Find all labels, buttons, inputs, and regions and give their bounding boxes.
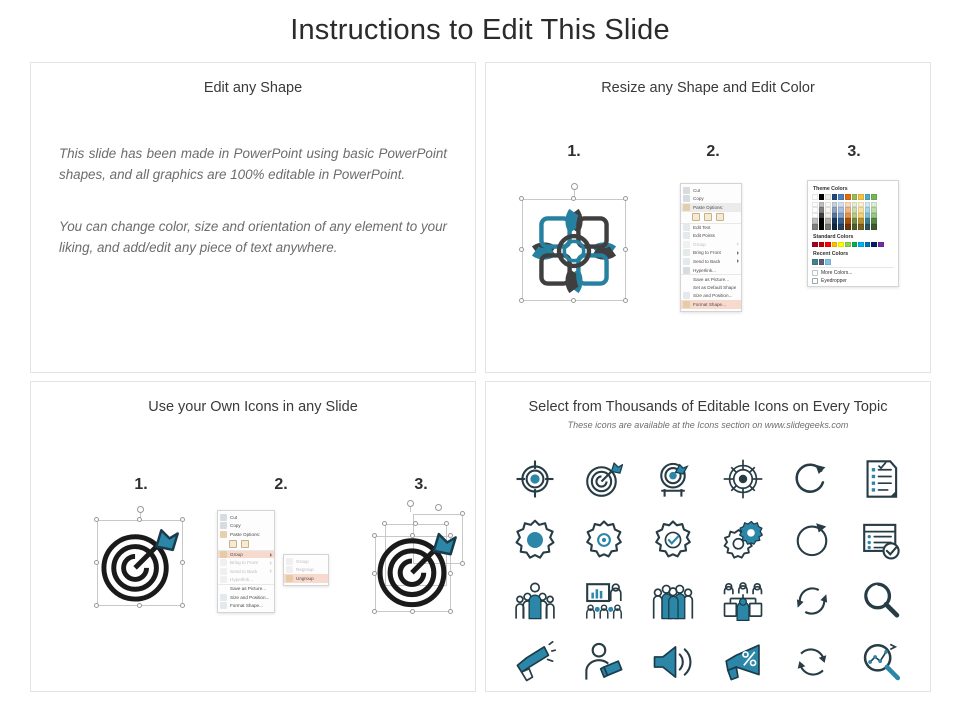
icon-gear[interactable] [582,518,626,562]
standard-color-swatch-8[interactable] [865,242,871,248]
context-menu-item-size-and-position[interactable]: Size and Position... [218,593,274,602]
context-menu-item-save-as-picture[interactable]: Save as Picture... [218,584,274,593]
dartboard-arrow-icon [99,522,181,604]
context-menu-item-set-as-default-shape[interactable]: Set as Default Shape [681,283,741,292]
more-colors-icon [812,270,818,276]
recent-color-swatch-2[interactable] [825,259,831,265]
recent-colors-row[interactable] [812,259,894,265]
icon-gallery-grid [500,448,916,692]
standard-color-swatch-9[interactable] [871,242,877,248]
recent-colors-label: Recent Colors [813,251,894,257]
chevron-right-icon [737,242,739,246]
spacer-icon [220,585,227,592]
grouped-icon-preview[interactable] [71,506,181,624]
context-menu-item-copy[interactable]: Copy [218,522,274,531]
context-menu-item-group[interactable]: Group [218,550,274,559]
resize-handle-w[interactable] [519,247,524,252]
resize-handle-se[interactable] [448,609,453,614]
bring-to-front-icon [683,249,690,256]
icon-gear-solid[interactable] [513,518,557,562]
shape-context-menu[interactable]: Cut Copy Paste Options: Edit Text Edit P… [680,183,742,312]
standard-color-swatch-6[interactable] [852,242,858,248]
rotate-handle-1[interactable] [407,500,414,507]
icon-circular-arrow[interactable] [790,518,834,562]
resize-handle-s[interactable] [571,298,576,303]
send-to-back-icon [683,258,690,265]
icon-team[interactable] [651,579,695,623]
resize-handle-se[interactable] [623,298,628,303]
theme-color-column-1[interactable] [819,202,825,230]
context-menu-item-format-shape[interactable]: Format Shape... [218,601,274,610]
submenu-item-ungroup[interactable]: Ungroup [284,574,328,583]
theme-color-variant-8-4[interactable] [865,224,871,230]
copy-icon [220,522,227,529]
theme-color-variant-5-4[interactable] [845,224,851,230]
resize-handle-s[interactable] [410,609,415,614]
icon-context-menu[interactable]: Cut Copy Paste Options: Group Bring to F… [217,510,275,613]
icon-gear-check[interactable] [651,518,695,562]
bring-to-front-icon [220,559,227,566]
edit-points-icon [683,232,690,239]
panel-edit-any-shape: Edit any Shape This slide has been made … [30,62,476,373]
context-menu-item-edit-text[interactable]: Edit Text [681,223,741,232]
icon-megaphone-percent[interactable] [721,640,765,684]
recent-color-swatch-0[interactable] [812,259,818,265]
icon-refresh-arrow[interactable] [790,457,834,501]
paste-icon [683,204,690,211]
icon-magnifier[interactable] [859,579,903,623]
spacer-icon [683,284,690,291]
standard-color-swatch-7[interactable] [858,242,864,248]
edit-shape-paragraph-2: You can change color, size and orientati… [59,216,447,258]
submenu-item-group: Group [284,557,328,566]
context-menu-item-cut[interactable]: Cut [218,513,274,522]
resize-step-number-2: 2. [693,143,733,161]
context-menu-item-paste-options[interactable]: Paste Options: [681,203,741,212]
context-menu-item-save-as-picture[interactable]: Save as Picture... [681,274,741,283]
theme-color-swatch-4[interactable] [838,194,844,200]
cut-icon [683,187,690,194]
icon-magnifier-chart[interactable] [859,640,903,684]
theme-color-variant-9-4[interactable] [871,224,877,230]
copy-icon [683,195,690,202]
chevron-right-icon [270,553,272,557]
theme-color-variant-3-4[interactable] [832,224,838,230]
theme-color-swatch-0[interactable] [812,194,818,200]
edit-shape-paragraph-1: This slide has been made in PowerPoint u… [59,143,447,185]
theme-color-column-8[interactable] [865,202,871,230]
resize-step-number-3: 3. [834,143,874,161]
context-menu-item-format-shape[interactable]: Format Shape... [681,300,741,309]
paste-keep-formatting-icon[interactable] [692,213,700,221]
icons-step-number-3: 3. [401,476,441,494]
color-picker-popup[interactable]: Theme Colors Standard Colors Recent Colo… [807,180,899,287]
ungroup-icon [286,575,293,582]
theme-color-variant-2-4[interactable] [825,224,831,230]
context-menu-item-hyperlink: Hyperlink... [218,576,274,585]
icon-person-megaphone[interactable] [582,640,626,684]
submenu-item-regroup: Regroup [284,566,328,575]
theme-color-column-0[interactable] [812,202,818,230]
theme-color-swatch-3[interactable] [832,194,838,200]
format-shape-icon [220,602,227,609]
standard-colors-row[interactable] [812,242,894,248]
icons-step-number-1: 1. [121,476,161,494]
resize-handle-n[interactable] [571,196,576,201]
context-menu-item-edit-points[interactable]: Edit Points [681,231,741,240]
theme-color-swatch-2[interactable] [825,194,831,200]
icon-megaphone[interactable] [513,640,557,684]
standard-color-swatch-2[interactable] [825,242,831,248]
panel-own-icons: Use your Own Icons in any Slide 1. 2. 3. [30,381,476,692]
selected-shape-preview[interactable] [516,181,634,309]
paste-option-buttons[interactable] [681,212,741,223]
panel-title-edit-shape: Edit any Shape [31,80,475,96]
panel-subtitle-editable-icons: These icons are available at the Icons s… [486,420,930,430]
chevron-right-icon [737,251,739,255]
context-menu-item-bring-to-front: Bring to Front [218,558,274,567]
context-menu-item-paste-options[interactable]: Paste Options: [218,530,274,539]
format-shape-icon [683,301,690,308]
theme-color-column-9[interactable] [871,202,877,230]
theme-color-swatch-7[interactable] [858,194,864,200]
theme-colors-top-row[interactable] [812,194,894,200]
panel-title-resize-shape: Resize any Shape and Edit Color [486,80,930,96]
theme-color-swatch-1[interactable] [819,194,825,200]
icon-loudspeaker[interactable] [651,640,695,684]
icon-dartboard-arrow[interactable] [582,457,626,501]
standard-color-swatch-4[interactable] [838,242,844,248]
icon-presentation-audience[interactable] [582,579,626,623]
icon-double-gear[interactable] [721,518,765,562]
hyperlink-icon [683,267,690,274]
context-menu-item-cut[interactable]: Cut [681,186,741,195]
cut-icon [220,514,227,521]
chevron-right-icon [737,259,739,263]
regroup-icon [286,566,293,573]
eyedropper-button[interactable]: Eyedropper [812,278,894,284]
resize-handle-sw[interactable] [372,609,377,614]
context-menu-item-bring-to-front[interactable]: Bring to Front [681,249,741,258]
page-title: Instructions to Edit This Slide [0,14,960,47]
theme-color-column-4[interactable] [838,202,844,230]
theme-color-swatch-8[interactable] [865,194,871,200]
chevron-right-icon [270,569,272,573]
theme-color-column-3[interactable] [832,202,838,230]
standard-color-swatch-10[interactable] [878,242,884,248]
eyedropper-icon [812,278,818,284]
standard-color-swatch-5[interactable] [845,242,851,248]
panel-title-editable-icons: Select from Thousands of Editable Icons … [486,399,930,415]
theme-color-swatch-5[interactable] [845,194,851,200]
standard-color-swatch-3[interactable] [832,242,838,248]
theme-color-swatch-6[interactable] [852,194,858,200]
theme-color-column-2[interactable] [825,202,831,230]
theme-colors-variants[interactable] [812,202,894,230]
theme-color-swatch-9[interactable] [871,194,877,200]
theme-color-column-5[interactable] [845,202,851,230]
hyperlink-icon [220,576,227,583]
rotate-handle-2[interactable] [435,504,442,511]
more-colors-button[interactable]: More Colors... [812,267,894,276]
slide-canvas: Instructions to Edit This Slide Edit any… [0,0,960,720]
context-menu-item-size-and-position[interactable]: Size and Position... [681,292,741,301]
standard-color-swatch-1[interactable] [819,242,825,248]
size-position-icon [683,292,690,299]
ungrouped-icon-preview[interactable] [353,500,473,624]
rotate-handle[interactable] [571,183,578,190]
icon-people-group[interactable] [513,579,557,623]
context-menu-item-send-to-back[interactable]: Send to Back [681,257,741,266]
context-menu-item-group: Group [681,240,741,249]
group-submenu[interactable]: Group Regroup Ungroup [283,554,329,586]
standard-color-swatch-0[interactable] [812,242,818,248]
panel-title-own-icons: Use your Own Icons in any Slide [31,399,475,415]
resize-step-number-1: 1. [554,143,594,161]
spacer-icon [683,276,690,283]
icon-crosshair-target[interactable] [513,457,557,501]
resize-handle-arrow-ne[interactable] [460,511,465,516]
paste-icon [220,531,227,538]
context-menu-item-send-to-back: Send to Back [218,567,274,576]
edit-text-icon [683,224,690,231]
theme-color-variant-7-4[interactable] [858,224,864,230]
theme-color-variant-0-4[interactable] [812,224,818,230]
theme-color-variant-6-4[interactable] [852,224,858,230]
four-square-ring-shape [530,207,618,295]
icon-circular-arrows[interactable] [790,640,834,684]
recent-color-swatch-1[interactable] [819,259,825,265]
panel-editable-icons: Select from Thousands of Editable Icons … [485,381,931,692]
icon-checklist-document[interactable] [859,457,903,501]
dartboard-arrow-icon-ungrouped [375,524,459,608]
group-icon [220,551,227,558]
icons-step-number-2: 2. [261,476,301,494]
resize-handle-nw[interactable] [519,196,524,201]
paste-picture-icon[interactable] [704,213,712,221]
paste-picture-icon[interactable] [241,540,249,548]
context-menu-item-hyperlink[interactable]: Hyperlink... [681,266,741,275]
icon-target-stand[interactable] [651,457,695,501]
icon-sync-arrows[interactable] [790,579,834,623]
context-menu-item-copy[interactable]: Copy [681,195,741,204]
rotate-handle[interactable] [137,506,144,513]
standard-colors-label: Standard Colors [813,234,894,240]
size-position-icon [220,594,227,601]
theme-colors-label: Theme Colors [813,186,894,192]
panel-resize-shape: Resize any Shape and Edit Color 1. 2. 3. [485,62,931,373]
theme-color-column-7[interactable] [858,202,864,230]
theme-color-variant-4-4[interactable] [838,224,844,230]
resize-handle-e[interactable] [623,247,628,252]
paste-text-only-icon[interactable] [716,213,724,221]
group-icon [683,241,690,248]
paste-keep-formatting-icon[interactable] [229,540,237,548]
resize-handle-ne[interactable] [623,196,628,201]
send-to-back-icon [220,568,227,575]
chevron-right-icon [270,561,272,565]
group-icon [286,558,293,565]
resize-handle-arrow-se[interactable] [460,561,465,566]
icon-crosshair-scope[interactable] [721,457,765,501]
resize-handle-sw[interactable] [519,298,524,303]
theme-color-column-6[interactable] [852,202,858,230]
theme-color-variant-1-4[interactable] [819,224,825,230]
icon-document-check[interactable] [859,518,903,562]
icon-org-chart-team[interactable] [721,579,765,623]
paste-option-buttons[interactable] [218,539,274,550]
